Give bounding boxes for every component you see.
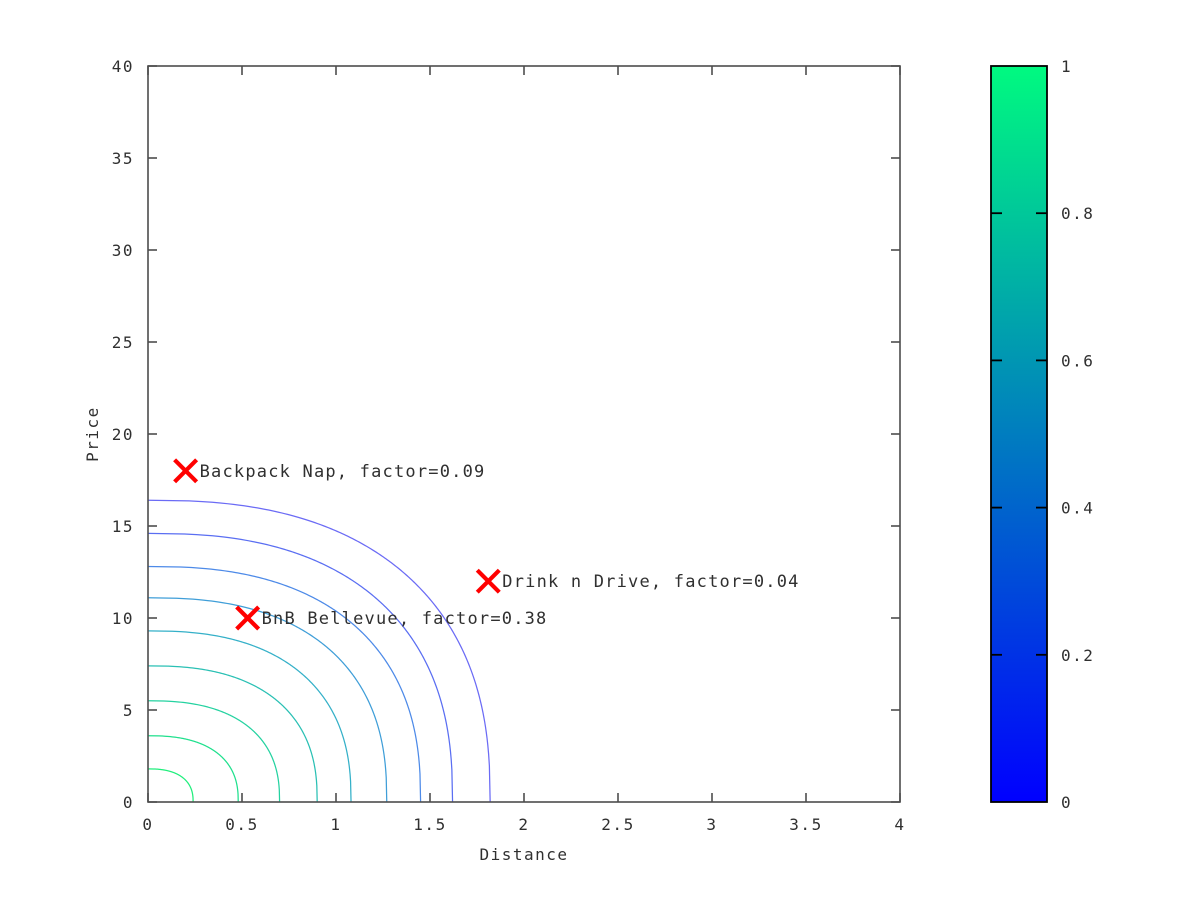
x-tick-label: 4 <box>894 815 905 834</box>
y-tick-label: 10 <box>112 609 134 628</box>
x-tick-label: 0.5 <box>225 815 258 834</box>
y-tick-label: 35 <box>112 149 134 168</box>
x-axis-ticks: 00.511.522.533.54 <box>142 66 905 834</box>
x-axis-title: Distance <box>479 845 568 864</box>
annotation-label: Backpack Nap, factor=0.09 <box>200 462 486 482</box>
contour-plot-svg: 00.511.522.533.54 0510152025303540 Dista… <box>0 0 1200 900</box>
y-tick-label: 25 <box>112 333 134 352</box>
colorbar-tick-label: 0.8 <box>1061 204 1094 223</box>
chart-canvas: 00.511.522.533.54 0510152025303540 Dista… <box>0 0 1200 900</box>
colorbar-gradient <box>991 66 1047 802</box>
plot-frame <box>148 66 900 802</box>
annotation-point[interactable]: Drink n Drive, factor=0.04 <box>477 570 799 592</box>
colorbar-tick-label: 0.6 <box>1061 351 1094 370</box>
y-tick-label: 15 <box>112 517 134 536</box>
colorbar-tick-label: 1 <box>1061 57 1072 76</box>
y-tick-label: 0 <box>123 793 134 812</box>
x-tick-label: 0 <box>142 815 153 834</box>
annotation-point[interactable]: Backpack Nap, factor=0.09 <box>175 460 486 482</box>
y-axis-title: Price <box>83 406 102 462</box>
contour-lines-group <box>148 500 490 802</box>
x-tick-label: 2.5 <box>601 815 634 834</box>
annotation-label: Drink n Drive, factor=0.04 <box>502 572 799 592</box>
x-tick-label: 3 <box>706 815 717 834</box>
colorbar-tick-label: 0.4 <box>1061 499 1094 518</box>
colorbar-tick-label: 0 <box>1061 793 1072 812</box>
x-tick-label: 2 <box>518 815 529 834</box>
y-tick-label: 5 <box>123 701 134 720</box>
y-tick-label: 20 <box>112 425 134 444</box>
x-tick-label: 1.5 <box>413 815 446 834</box>
y-axis-ticks: 0510152025303540 <box>112 57 900 812</box>
annotation-point[interactable]: BnB Bellevue, factor=0.38 <box>237 607 548 629</box>
x-tick-label: 1 <box>330 815 341 834</box>
annotation-label: BnB Bellevue, factor=0.38 <box>262 609 548 629</box>
y-tick-label: 30 <box>112 241 134 260</box>
y-tick-label: 40 <box>112 57 134 76</box>
colorbar-tick-label: 0.2 <box>1061 646 1094 665</box>
x-tick-label: 3.5 <box>789 815 822 834</box>
